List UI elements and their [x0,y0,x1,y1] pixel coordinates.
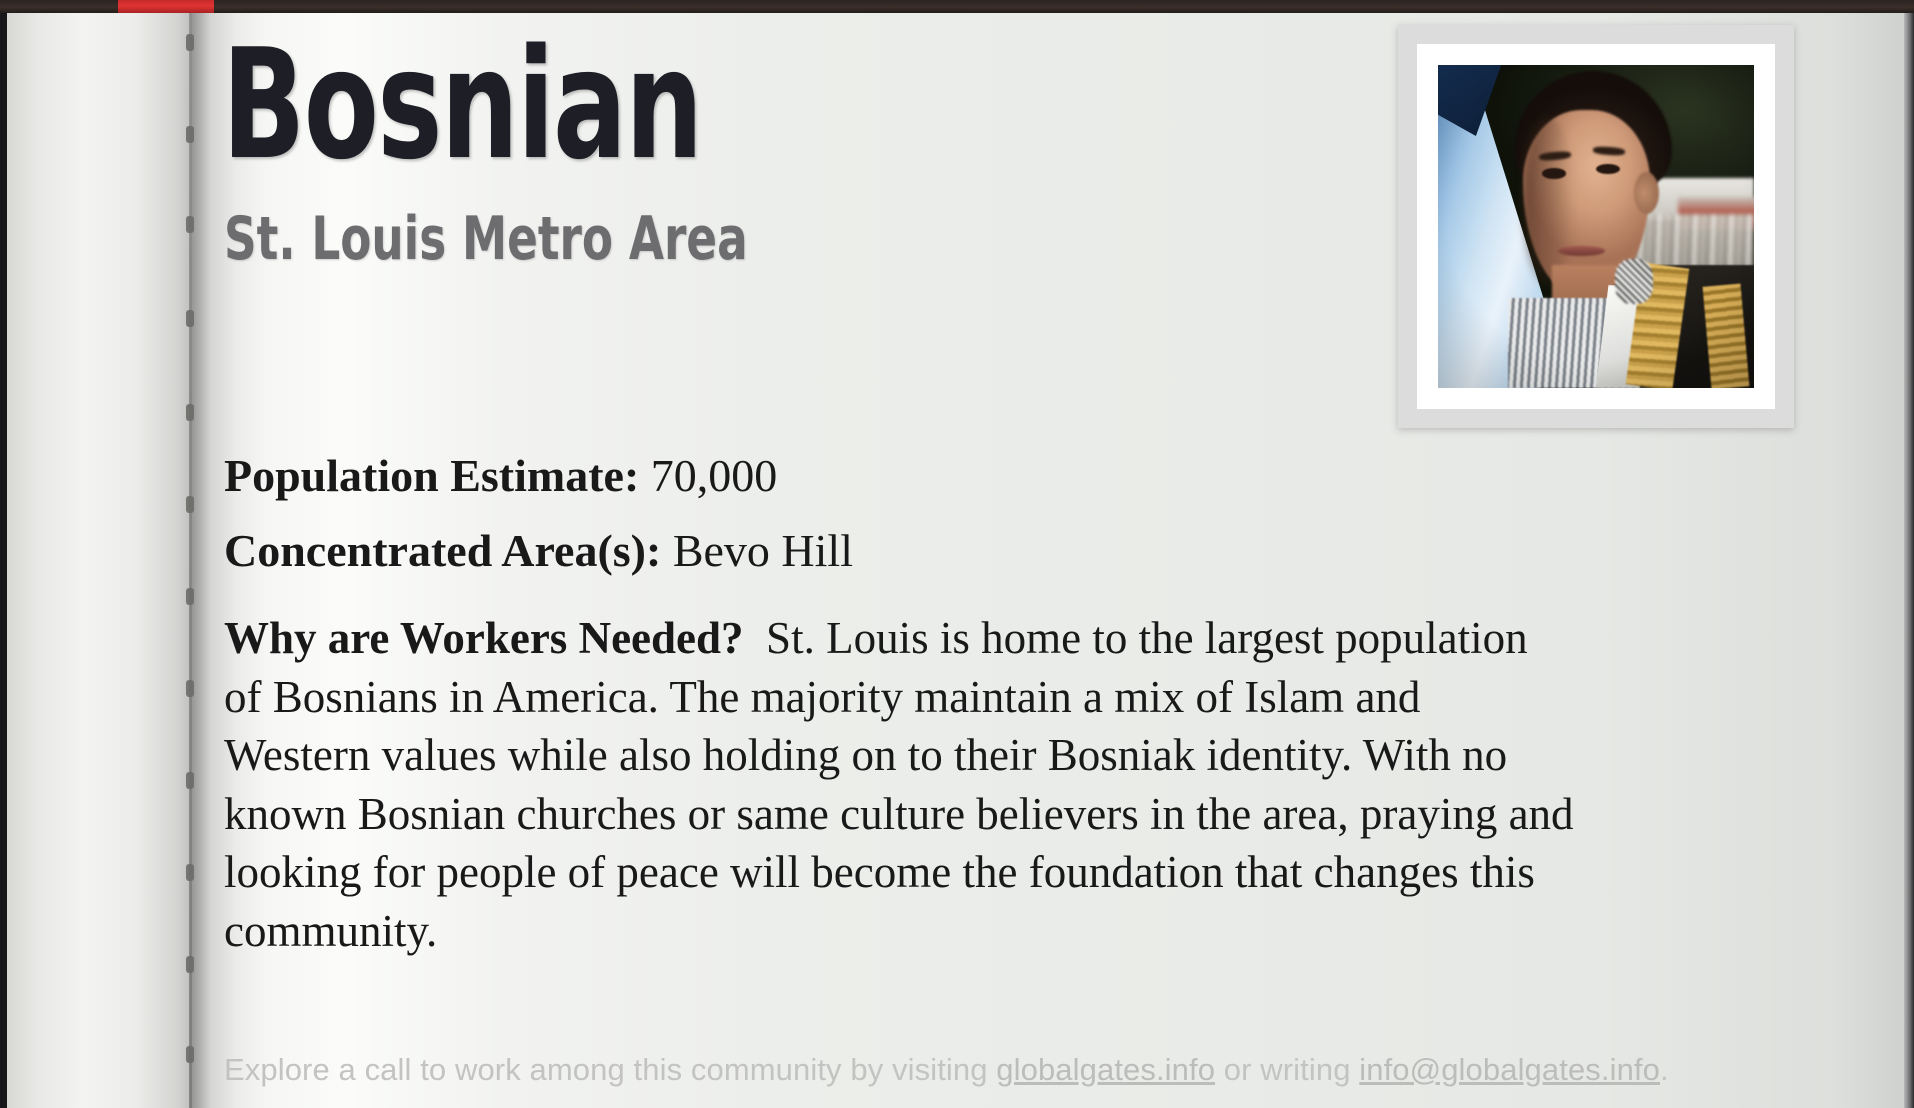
book-spread: Bosnian St. Louis Metro Area Population … [0,0,1914,1108]
fact-label: Population Estimate: [224,450,639,501]
why-workers-needed-label: Why are Workers Needed? [224,613,744,663]
why-workers-needed-body: St. Louis is home to the largest populat… [224,613,1574,956]
fact-row-population: Population Estimate: 70,000 [224,439,1584,514]
community-photo [1438,65,1754,388]
fact-row-concentrated-area: Concentrated Area(s): Bevo Hill [224,514,1584,589]
fact-list: Population Estimate: 70,000 Concentrated… [224,439,1584,588]
globalgates-website-link[interactable]: globalgates.info [996,1052,1215,1087]
footer-middle-text: or writing [1215,1052,1359,1087]
footer-call-to-action: Explore a call to work among this commun… [224,1051,1884,1088]
footer-suffix-text: . [1660,1052,1669,1087]
footer-prefix-text: Explore a call to work among this commun… [224,1052,996,1087]
fact-value: Bevo Hill [673,525,853,576]
page-title: Bosnian [222,29,702,181]
photo-mat [1417,44,1775,409]
book-right-edge [1904,11,1914,1108]
left-page [6,11,192,1108]
photo-vignette [1438,65,1754,388]
why-workers-needed-section: Why are Workers Needed? St. Louis is hom… [224,609,1576,960]
fact-value: 70,000 [651,450,778,501]
page-content: Bosnian St. Louis Metro Area Population … [190,11,1904,1108]
fact-label: Concentrated Area(s): [224,525,661,576]
book-left-edge [0,11,7,1108]
page-subtitle: St. Louis Metro Area [224,209,748,269]
photo-frame [1398,25,1794,428]
globalgates-email-link[interactable]: info@globalgates.info [1359,1052,1660,1087]
